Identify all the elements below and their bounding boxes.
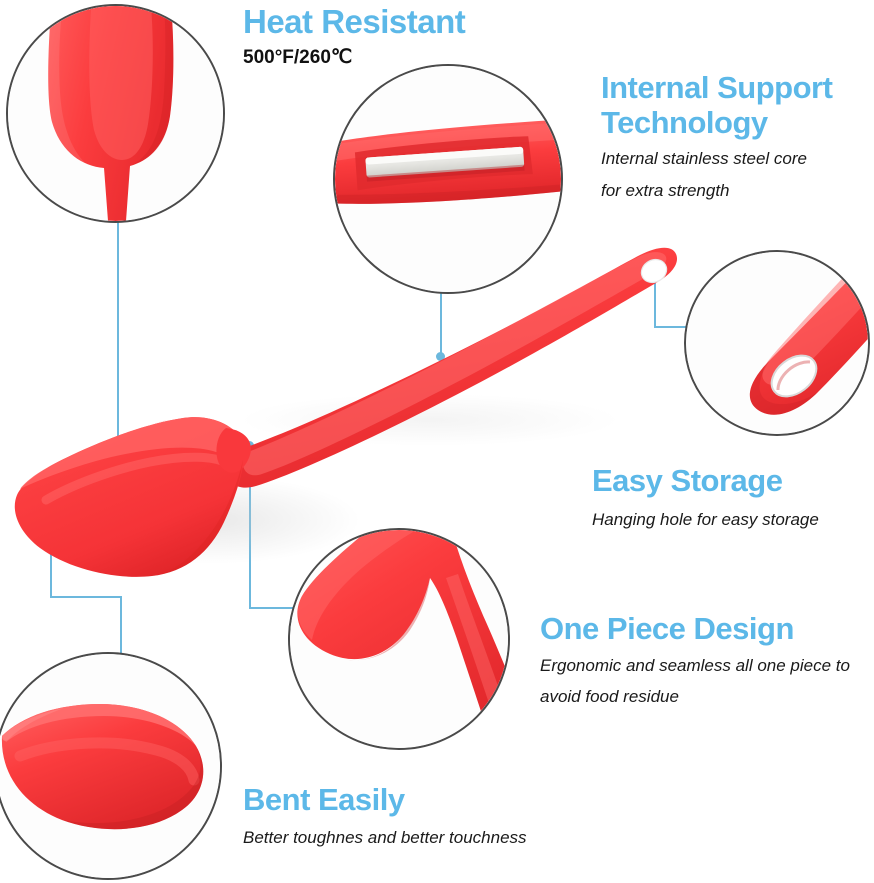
internal-support-subtitle-line1: Internal stainless steel core [601, 143, 874, 174]
one-piece-design-subtitle-line1: Ergonomic and seamless all one piece to [540, 650, 874, 681]
internal-support-title-line2: Technology [601, 106, 874, 141]
one-piece-design-subtitle-line2: avoid food residue [540, 681, 874, 712]
callout-easy-storage [684, 250, 870, 436]
callout-heat-resistant [6, 4, 225, 223]
internal-support-title-line1: Internal Support [601, 71, 874, 106]
feature-text-internal-support: Internal Support Technology Internal sta… [601, 71, 874, 206]
callout-internal-support [333, 64, 563, 294]
feature-text-easy-storage: Easy Storage Hanging hole for easy stora… [592, 464, 874, 535]
callout-one-piece-design [288, 528, 510, 750]
callout-heat-resistant-image [8, 6, 223, 221]
easy-storage-title: Easy Storage [592, 464, 874, 499]
easy-storage-subtitle: Hanging hole for easy storage [592, 504, 874, 535]
callout-internal-support-image [335, 66, 561, 292]
callout-bent-easily [0, 652, 222, 880]
callout-easy-storage-image [686, 252, 868, 434]
feature-text-one-piece-design: One Piece Design Ergonomic and seamless … [540, 612, 874, 713]
one-piece-design-title: One Piece Design [540, 612, 874, 647]
feature-text-heat-resistant: Heat Resistant 500°F/260℃ [243, 4, 543, 69]
callout-one-piece-design-image [290, 530, 508, 748]
infographic-canvas: Heat Resistant 500°F/260℃ Internal Suppo… [0, 0, 874, 883]
callout-bent-easily-image [0, 654, 220, 878]
heat-resistant-title: Heat Resistant [243, 4, 543, 41]
bent-easily-title: Bent Easily [243, 783, 643, 818]
bent-easily-subtitle: Better toughnes and better touchness [243, 822, 643, 853]
feature-text-bent-easily: Bent Easily Better toughnes and better t… [243, 783, 643, 853]
heat-resistant-subtitle: 500°F/260℃ [243, 46, 543, 69]
internal-support-subtitle-line2: for extra strength [601, 175, 874, 206]
